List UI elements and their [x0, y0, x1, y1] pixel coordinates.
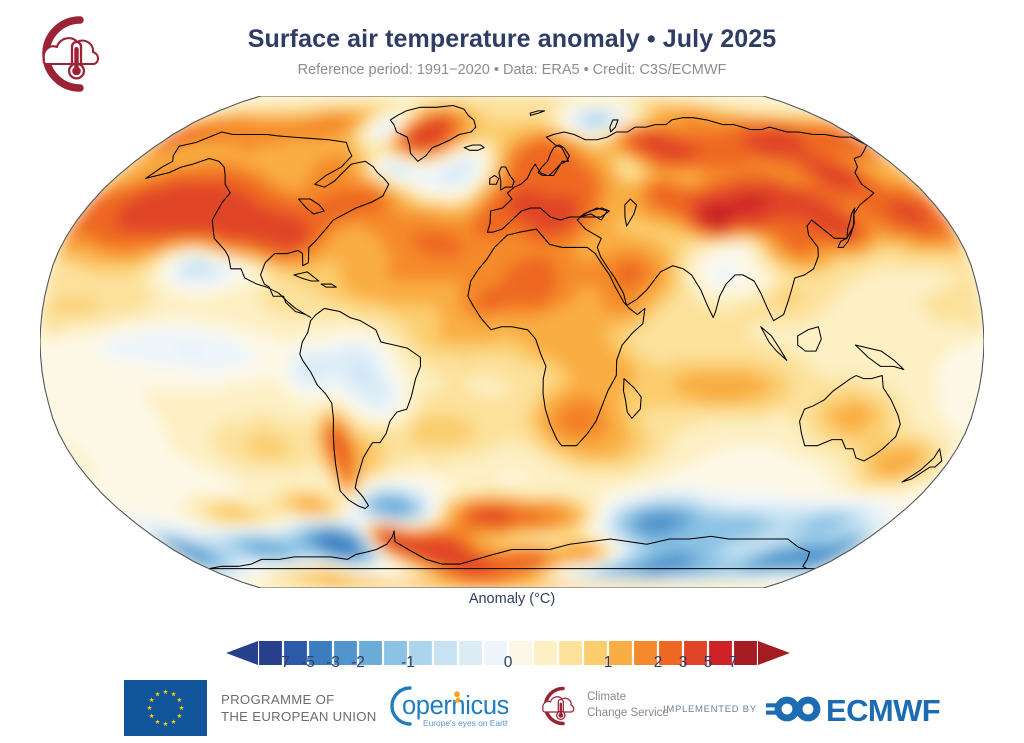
ecmwf-logo-icon: ECMWF [766, 690, 962, 728]
anomaly-field [40, 96, 984, 588]
ecmwf-logo-group: IMPLEMENTED BY ECMWF [663, 690, 962, 728]
colorbar-section: Anomaly (°C) -7-5-3-2-1012357 [0, 592, 1024, 672]
svg-text:1: 1 [604, 654, 613, 671]
svg-text:ECMWF: ECMWF [826, 693, 940, 728]
anomaly-map [40, 96, 984, 588]
svg-text:-7: -7 [276, 654, 290, 671]
page-title: Surface air temperature anomaly • July 2… [0, 26, 1024, 54]
svg-text:-2: -2 [351, 654, 365, 671]
title-block: Surface air temperature anomaly • July 2… [0, 26, 1024, 78]
poster-root: Surface air temperature anomaly • July 2… [0, 0, 1024, 743]
svg-text:Europe's eyes on Earth: Europe's eyes on Earth [423, 718, 508, 728]
eu-logo-group: PROGRAMME OF THE EUROPEAN UNION [124, 680, 377, 736]
svg-text:-3: -3 [326, 654, 340, 671]
svg-text:5: 5 [704, 654, 713, 671]
colorbar-title: Anomaly (°C) [0, 592, 1024, 608]
implemented-by-label: IMPLEMENTED BY [663, 704, 757, 715]
colorbar: -7-5-3-2-1012357 [0, 615, 1024, 671]
svg-text:7: 7 [729, 654, 738, 671]
svg-text:2: 2 [654, 654, 663, 671]
c3s-thermometer-cloud-icon [532, 685, 580, 727]
map-canvas [40, 96, 984, 588]
copernicus-logo-icon: opernicus Europe's eyes on Earth [376, 682, 508, 730]
svg-text:-5: -5 [301, 654, 315, 671]
svg-text:0: 0 [504, 654, 513, 671]
eu-logo-text: PROGRAMME OF THE EUROPEAN UNION [221, 691, 377, 726]
svg-text:3: 3 [679, 654, 688, 671]
copernicus-logo-group: opernicus Europe's eyes on Earth [376, 682, 508, 730]
c3s-logo-group: Climate Change Service [532, 685, 669, 727]
c3s-logo-text: Climate Change Service [587, 690, 669, 721]
svg-text:-1: -1 [401, 654, 415, 671]
page-subtitle: Reference period: 1991−2020 • Data: ERA5… [0, 63, 1024, 79]
footer: PROGRAMME OF THE EUROPEAN UNION opernicu… [0, 676, 1024, 740]
eu-flag-icon [124, 680, 207, 736]
